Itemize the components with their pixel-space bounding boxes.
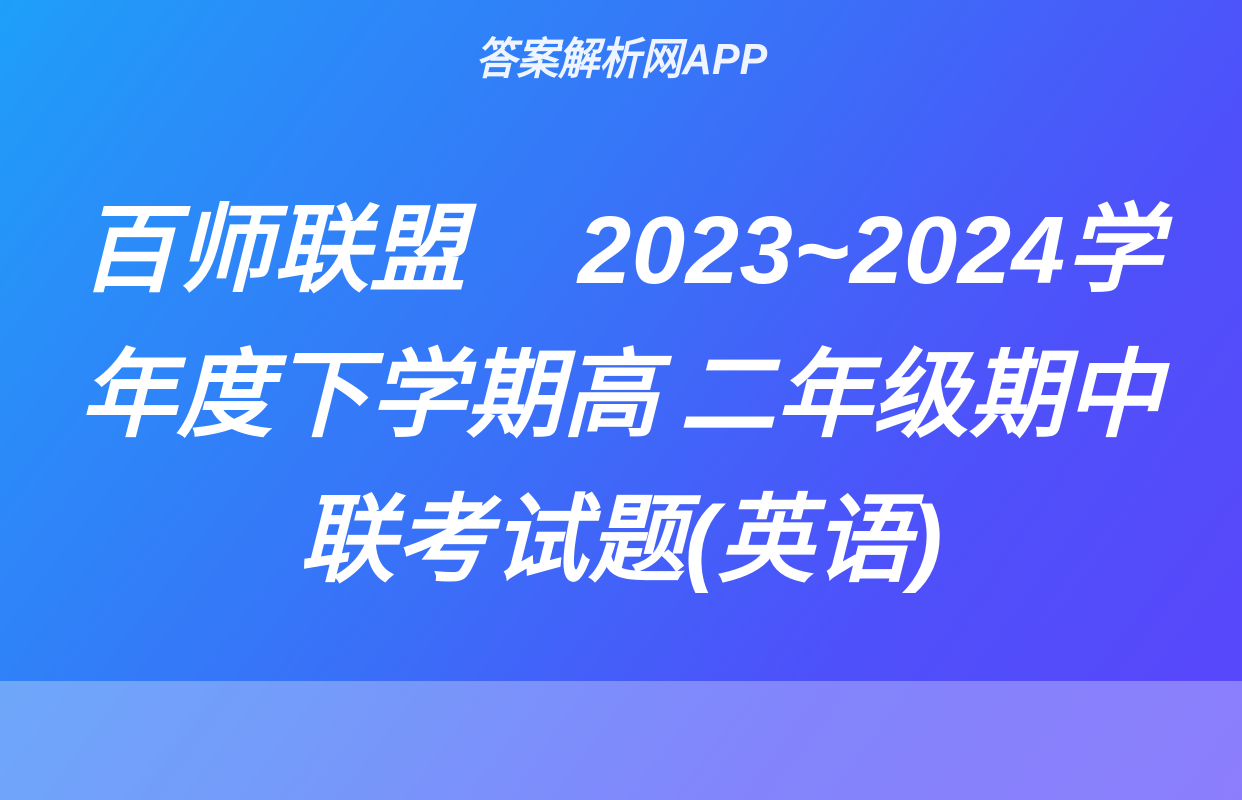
title-line-1-right: 2023~2024学 bbox=[578, 178, 1162, 323]
share-card: 百师联盟 2023~2024学 年度下学期高 二年级期中 联考试题(英语) 答案… bbox=[0, 0, 1242, 800]
bottom-overlay-band bbox=[0, 681, 1242, 800]
title-line-1: 百师联盟 2023~2024学 bbox=[80, 178, 1162, 323]
page-title: 百师联盟 2023~2024学 年度下学期高 二年级期中 联考试题(英语) bbox=[80, 178, 1162, 613]
watermark: 答案解析网APP bbox=[0, 0, 1242, 119]
title-line-3: 联考试题(英语) bbox=[80, 468, 1162, 613]
title-line-2-left: 年度下学期高 bbox=[80, 323, 659, 468]
watermark-label: 答案解析网APP bbox=[475, 38, 767, 82]
title-line-1-left: 百师联盟 bbox=[80, 178, 466, 323]
title-line-2: 年度下学期高 二年级期中 bbox=[80, 323, 1162, 468]
title-line-2-right: 二年级期中 bbox=[680, 323, 1163, 468]
